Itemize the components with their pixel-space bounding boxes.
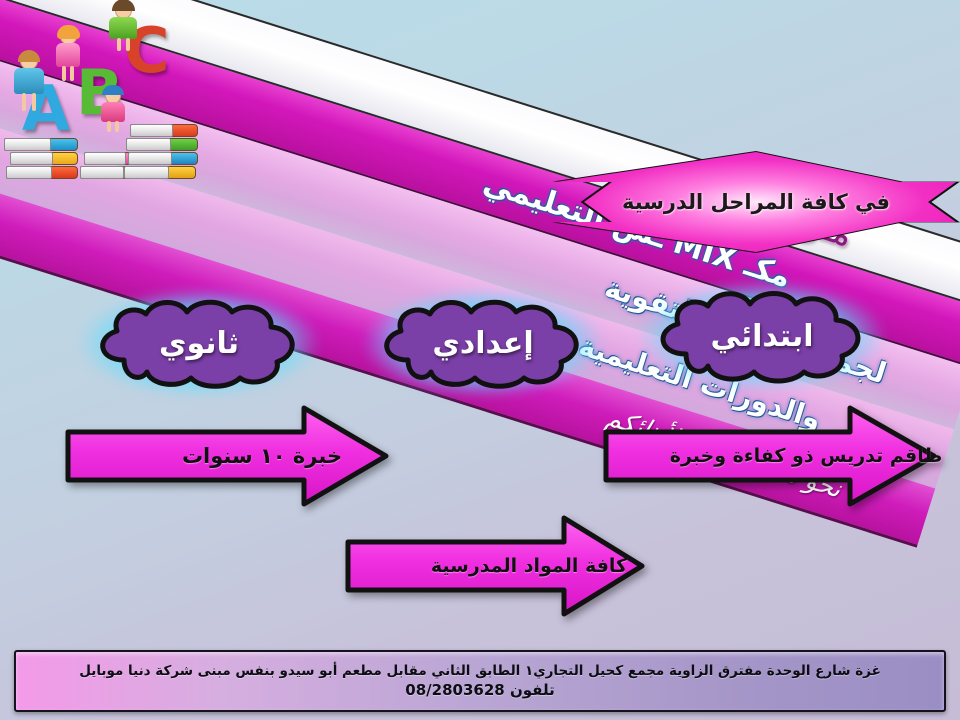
footer-address: غزة شارع الوحدة مفترق الزاوية مجمع كحيل … xyxy=(79,663,881,679)
arrow-all-subjects: كافة المواد المدرسية xyxy=(342,514,648,618)
arrow-ten-years: خبرة ١٠ سنوات xyxy=(62,404,392,508)
arrow-qualified-staff: طاقم تدريس ذو كفاءة وخبرة xyxy=(600,404,940,508)
footer-phone-label: تلفون xyxy=(510,681,555,699)
kid-cap-icon xyxy=(98,86,130,132)
cloud-secondary: ثانوي xyxy=(86,296,312,390)
diamond-ribbon: في كافة المراحل الدرسية xyxy=(556,152,956,252)
footer-phone: تلفون 08/2803628 xyxy=(405,681,554,699)
kid-green-icon xyxy=(106,2,144,54)
cloud-elementary-label: ابتدائي xyxy=(646,288,878,384)
cloud-secondary-label: ثانوي xyxy=(86,296,312,390)
kid-blue-icon xyxy=(10,52,50,114)
footer-contact-bar: غزة شارع الوحدة مفترق الزاوية مجمع كحيل … xyxy=(14,650,946,712)
arrow-qualified-staff-label: طاقم تدريس ذو كفاءة وخبرة xyxy=(688,404,924,508)
arrow-ten-years-label: خبرة ١٠ سنوات xyxy=(148,404,376,508)
footer-phone-number: 08/2803628 xyxy=(405,681,504,699)
flyer-canvas: A B C xyxy=(0,0,960,720)
abc-books-clipart: A B C xyxy=(4,0,204,185)
diamond-label: في كافة المراحل الدرسية xyxy=(556,152,956,252)
cloud-elementary: ابتدائي xyxy=(646,288,878,384)
kid-pink-icon xyxy=(52,28,86,84)
cloud-preparatory-label: إعدادي xyxy=(370,296,596,390)
cloud-preparatory: إعدادي xyxy=(370,296,596,390)
arrow-all-subjects-label: كافة المواد المدرسية xyxy=(424,514,634,618)
